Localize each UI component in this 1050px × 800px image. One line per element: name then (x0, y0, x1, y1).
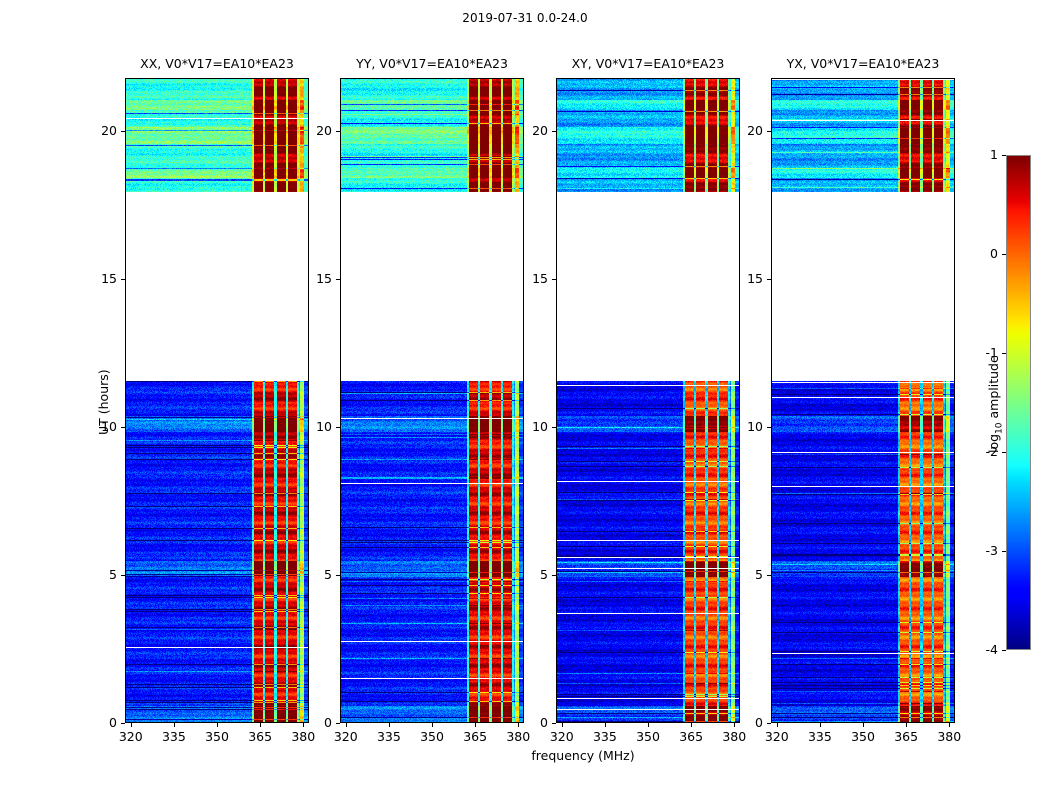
y-tick-label: 10 (290, 419, 332, 434)
y-tick-label: 5 (290, 567, 332, 582)
x-tickmark (863, 723, 864, 727)
figure-suptitle: 2019-07-31 0.0-24.0 (0, 11, 1050, 25)
y-tick-label: 20 (506, 123, 548, 138)
y-tickmark (121, 575, 125, 576)
y-tickmark (552, 723, 556, 724)
colorbar-tick-label: 1 (954, 147, 998, 162)
x-tickmark (217, 723, 218, 727)
x-tick-label: 380 (924, 729, 974, 744)
y-tick-label: 15 (75, 271, 117, 286)
x-tickmark (432, 723, 433, 727)
x-tickmark (820, 723, 821, 727)
x-axis-label: frequency (MHz) (383, 748, 783, 763)
y-tick-label: 20 (721, 123, 763, 138)
colorbar-tickmark (1002, 155, 1006, 156)
figure-canvas: 2019-07-31 0.0-24.0 frequency (MHz) UT (… (0, 0, 1050, 800)
waterfall-image-yy (341, 79, 524, 723)
waterfall-image-xx (126, 79, 309, 723)
y-tickmark (336, 279, 340, 280)
y-tickmark (767, 131, 771, 132)
y-tickmark (121, 723, 125, 724)
x-tickmark (260, 723, 261, 727)
colorbar-tick-label: -4 (954, 642, 998, 657)
y-tickmark (767, 279, 771, 280)
x-tickmark (562, 723, 563, 727)
colorbar-tickmark (1002, 650, 1006, 651)
y-tick-label: 10 (506, 419, 548, 434)
colorbar-tickmark (1002, 353, 1006, 354)
y-tickmark (336, 427, 340, 428)
y-tickmark (552, 427, 556, 428)
y-tick-label: 15 (721, 271, 763, 286)
x-tickmark (906, 723, 907, 727)
colorbar-tick-label: -3 (954, 543, 998, 558)
waterfall-panel-yx (771, 78, 955, 723)
colorbar-label-tail: amplitude (986, 355, 1001, 422)
y-tickmark (121, 279, 125, 280)
waterfall-panel-xx (125, 78, 309, 723)
colorbar-tick-label: -1 (954, 345, 998, 360)
waterfall-panel-yy (340, 78, 524, 723)
y-tickmark (552, 279, 556, 280)
waterfall-image-xy (557, 79, 740, 723)
colorbar-tickmark (1002, 551, 1006, 552)
waterfall-image-yx (772, 79, 955, 723)
x-tickmark (131, 723, 132, 727)
colorbar-label: log10 amplitude (986, 355, 1005, 453)
y-tick-label: 0 (75, 715, 117, 730)
y-tick-label: 20 (290, 123, 332, 138)
x-tickmark (691, 723, 692, 727)
colorbar-tickmark (1002, 452, 1006, 453)
y-tickmark (552, 575, 556, 576)
x-tickmark (475, 723, 476, 727)
x-tickmark (174, 723, 175, 727)
y-tick-label: 5 (75, 567, 117, 582)
x-tickmark (648, 723, 649, 727)
y-tick-label: 20 (75, 123, 117, 138)
colorbar-tickmark (1002, 254, 1006, 255)
panel-title-yx: YX, V0*V17=EA10*EA23 (711, 56, 1015, 71)
y-tickmark (336, 131, 340, 132)
y-tickmark (121, 427, 125, 428)
y-tickmark (121, 131, 125, 132)
x-tickmark (346, 723, 347, 727)
colorbar-tick-label: 0 (954, 246, 998, 261)
colorbar-label-subscript: 10 (995, 422, 1005, 433)
y-tickmark (767, 575, 771, 576)
y-tickmark (552, 131, 556, 132)
x-tick-label: 380 (493, 729, 543, 744)
y-tick-label: 15 (290, 271, 332, 286)
colorbar (1006, 155, 1031, 650)
y-tick-label: 0 (506, 715, 548, 730)
y-tickmark (336, 723, 340, 724)
y-tick-label: 15 (506, 271, 548, 286)
y-tick-label: 5 (721, 567, 763, 582)
y-tick-label: 10 (75, 419, 117, 434)
y-tick-label: 0 (290, 715, 332, 730)
x-tickmark (777, 723, 778, 727)
y-tickmark (767, 723, 771, 724)
y-tickmark (336, 575, 340, 576)
y-tickmark (767, 427, 771, 428)
y-tick-label: 0 (721, 715, 763, 730)
x-tickmark (389, 723, 390, 727)
waterfall-panel-xy (556, 78, 740, 723)
y-tick-label: 10 (721, 419, 763, 434)
colorbar-tick-label: -2 (954, 444, 998, 459)
y-tick-label: 5 (506, 567, 548, 582)
colorbar-gradient (1007, 156, 1031, 650)
x-tickmark (605, 723, 606, 727)
x-tickmark (949, 723, 950, 727)
